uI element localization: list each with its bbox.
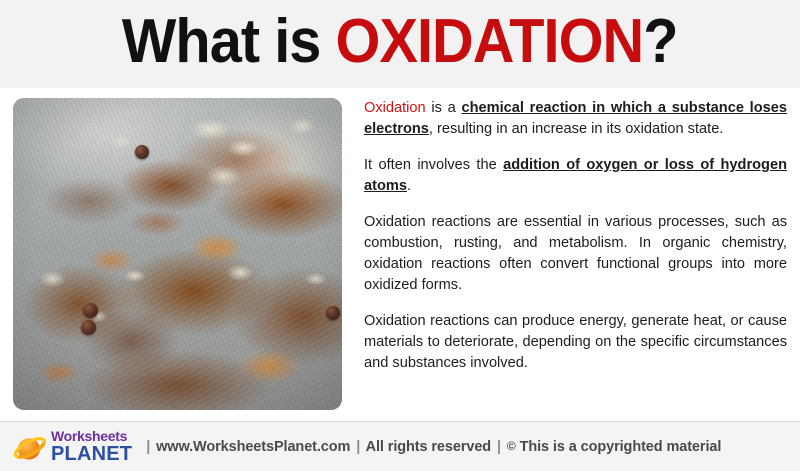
header-bar: What is OXIDATION? bbox=[0, 0, 800, 88]
logo-wordmark: Worksheets PLANET bbox=[51, 429, 132, 464]
description-column: Oxidation is a chemical reaction in whic… bbox=[342, 98, 788, 421]
rust-photo-vignette bbox=[13, 98, 342, 410]
page-title-question-mark: ? bbox=[643, 7, 677, 76]
paragraph-definition: Oxidation is a chemical reaction in whic… bbox=[364, 98, 787, 140]
page-title-prefix: What is bbox=[122, 7, 336, 76]
footer-separator-2: | bbox=[354, 439, 362, 455]
copyright-icon: © bbox=[507, 439, 516, 453]
definition-text-1: is a bbox=[426, 100, 462, 116]
planet-icon-svg bbox=[14, 431, 48, 463]
worksheet-poster: What is OXIDATION? Oxidation is a chemic… bbox=[0, 0, 800, 471]
footer-credits: | www.WorksheetsPlanet.com | All rights … bbox=[144, 439, 721, 455]
footer-bar: Worksheets PLANET | www.WorksheetsPlanet… bbox=[0, 421, 800, 471]
logo-word-planet: PLANET bbox=[51, 444, 132, 464]
footer-separator-1: | bbox=[144, 439, 152, 455]
logo-word-worksheets: Worksheets bbox=[51, 429, 132, 443]
involves-text-2: . bbox=[407, 178, 411, 194]
footer-rights: All rights reserved bbox=[366, 439, 491, 455]
footer-website[interactable]: www.WorksheetsPlanet.com bbox=[156, 439, 350, 455]
page-title-keyword: OXIDATION bbox=[336, 7, 644, 76]
page-title: What is OXIDATION? bbox=[122, 11, 678, 77]
footer-separator-3: | bbox=[495, 439, 503, 455]
effects-text: Oxidation reactions can produce energy, … bbox=[364, 313, 787, 371]
planet-icon bbox=[14, 431, 48, 463]
paragraph-processes: Oxidation reactions are essential in var… bbox=[364, 212, 787, 296]
paragraph-effects: Oxidation reactions can produce energy, … bbox=[364, 311, 787, 374]
definition-text-2: , resulting in an increase in its oxidat… bbox=[429, 121, 723, 137]
main-content: Oxidation is a chemical reaction in whic… bbox=[0, 88, 800, 421]
processes-text: Oxidation reactions are essential in var… bbox=[364, 214, 787, 293]
worksheets-planet-logo[interactable]: Worksheets PLANET bbox=[14, 429, 132, 464]
keyword-oxidation: Oxidation bbox=[364, 100, 426, 116]
involves-text-1: It often involves the bbox=[364, 157, 503, 173]
paragraph-involves: It often involves the addition of oxygen… bbox=[364, 155, 787, 197]
rust-photo bbox=[13, 98, 342, 410]
footer-copyright-text: This is a copyrighted material bbox=[520, 439, 722, 455]
